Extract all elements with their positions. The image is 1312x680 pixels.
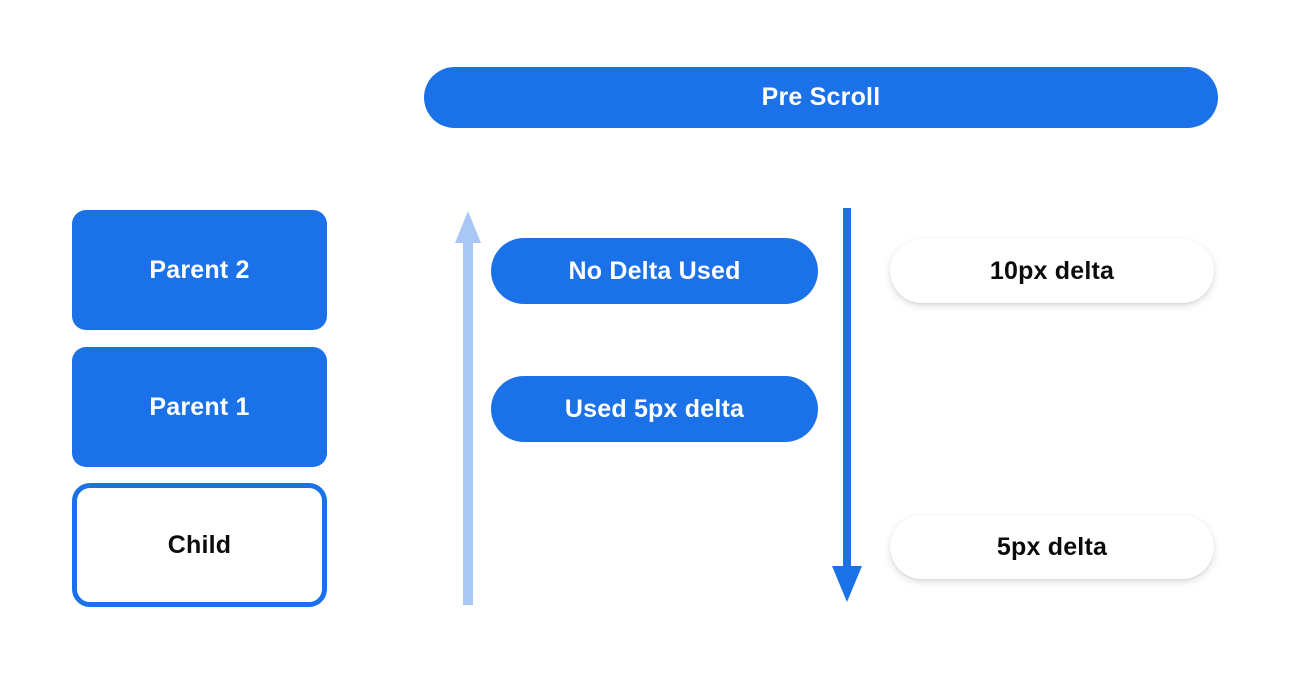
pill-5px-delta: 5px delta [890,515,1214,579]
pill-no-delta-used: No Delta Used [491,238,818,304]
box-parent-2-label: Parent 2 [149,256,249,285]
pre-scroll-header: Pre Scroll [424,67,1218,128]
pre-scroll-header-label: Pre Scroll [762,83,881,112]
box-parent-1-label: Parent 1 [149,393,249,422]
box-child-label: Child [168,531,232,560]
pill-used-5px-delta: Used 5px delta [491,376,818,442]
diagram-canvas: Pre Scroll Parent 2 Parent 1 Child No De… [0,0,1312,680]
downward-arrow-icon [830,208,864,606]
box-child: Child [72,483,327,607]
pill-10px-delta-label: 10px delta [990,257,1114,286]
box-parent-1: Parent 1 [72,347,327,467]
pill-no-delta-used-label: No Delta Used [568,257,740,286]
pill-5px-delta-label: 5px delta [997,533,1107,562]
pill-used-5px-delta-label: Used 5px delta [565,395,744,424]
box-parent-2: Parent 2 [72,210,327,330]
upward-arrow-icon [452,205,484,605]
pill-10px-delta: 10px delta [890,239,1214,303]
